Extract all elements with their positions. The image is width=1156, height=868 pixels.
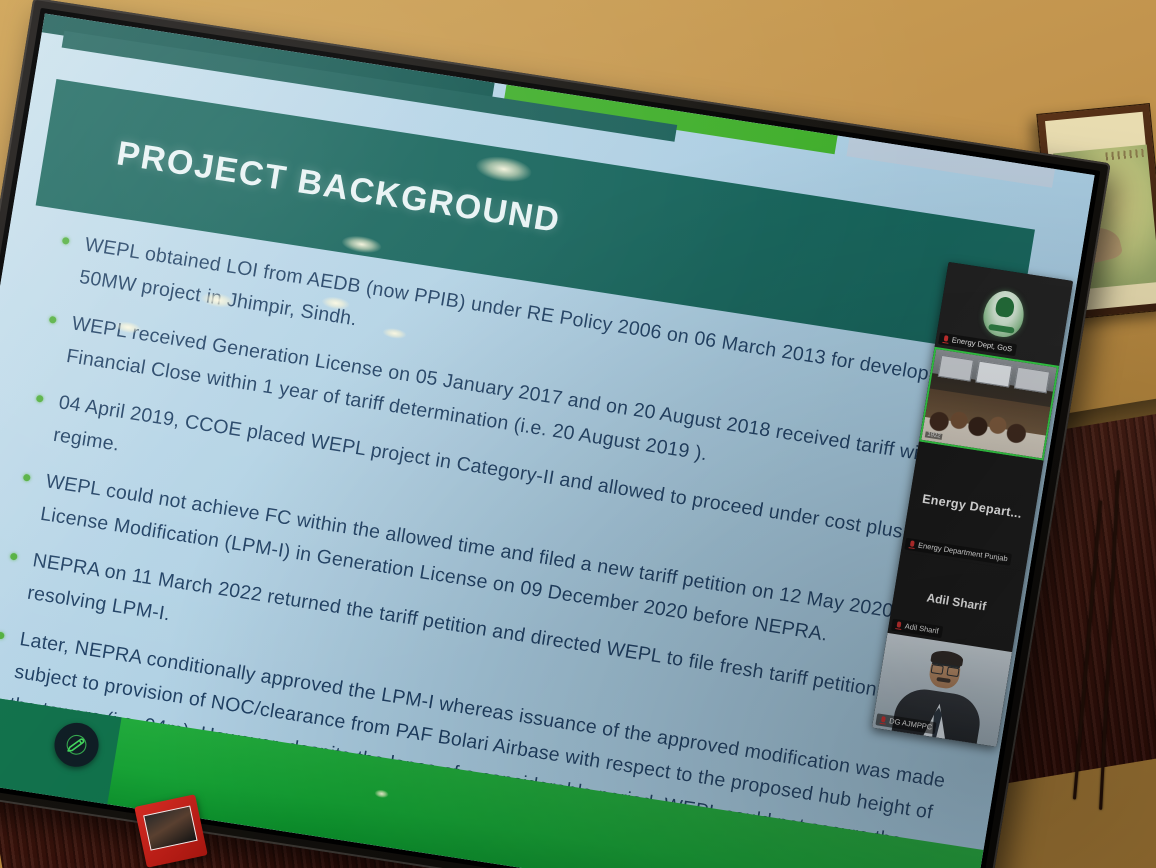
vc-display-name: Adil Sharif: [926, 591, 988, 614]
presentation-slide: PROJECT BACKGROUND WEPL obtained LOI fro…: [0, 14, 1095, 868]
tv-screen: PROJECT BACKGROUND WEPL obtained LOI fro…: [0, 14, 1095, 868]
red-desk-object: [134, 794, 208, 868]
room-screen-right: [1014, 367, 1051, 394]
slide-title: PROJECT BACKGROUND: [114, 134, 563, 241]
pen-icon: [64, 732, 89, 757]
vc-tile-energy-department-punjab[interactable]: Energy Depart... Energy Department Punja…: [901, 441, 1044, 571]
government-crest-icon: [980, 288, 1027, 339]
room-screen-left: [938, 355, 975, 382]
room-scene: PROJECT BACKGROUND WEPL obtained LOI fro…: [0, 0, 1156, 868]
bullet-dot-icon: [0, 632, 5, 640]
red-object-photo: [143, 805, 197, 850]
bullet-dot-icon: [62, 237, 70, 245]
mic-muted-icon: [942, 335, 949, 345]
mic-muted-icon: [908, 540, 915, 550]
vc-tile-meeting-room[interactable]: 1922: [919, 347, 1059, 461]
bullet-dot-icon: [49, 316, 57, 324]
bullet-dot-icon: [23, 474, 31, 482]
mic-muted-icon: [880, 715, 887, 725]
mic-muted-icon: [895, 621, 902, 631]
room-screen-center: [976, 361, 1013, 388]
bullet-dot-icon: [36, 395, 44, 403]
vc-tile-dg-ajmppc[interactable]: DG AJMPPC: [872, 633, 1012, 747]
vc-display-name: Energy Depart...: [921, 492, 1023, 521]
bullet-dot-icon: [10, 553, 18, 561]
